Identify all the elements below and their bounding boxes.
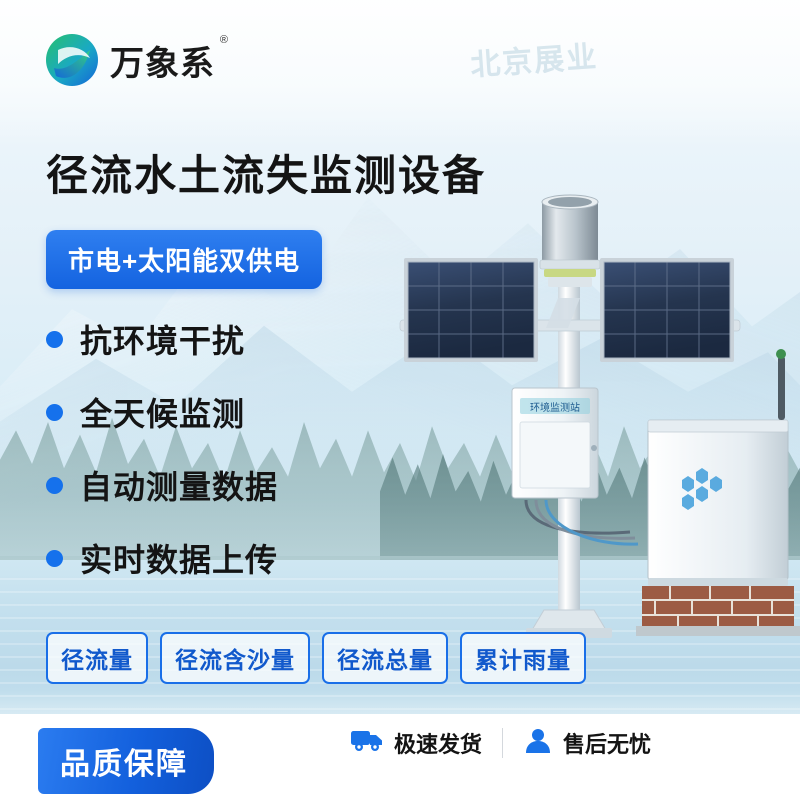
bullet-dot-icon — [46, 550, 63, 567]
swirl-sphere-logo-icon — [44, 32, 100, 88]
service-label: 极速发货 — [394, 727, 482, 759]
station-label-text: 环境监测站 — [530, 401, 580, 414]
measurement-tag: 径流含沙量 — [160, 632, 310, 684]
feature-item: 全天候监测 — [46, 389, 278, 435]
quality-assurance-badge: 品质保障 — [38, 728, 214, 794]
brand-logo: 万象系 ® — [44, 32, 215, 88]
bullet-dot-icon — [46, 477, 63, 494]
poster-canvas: 北京展业 — [0, 0, 800, 800]
feature-item: 自动测量数据 — [46, 462, 278, 508]
brand-name: 万象系 ® — [110, 36, 215, 85]
registered-mark: ® — [220, 34, 229, 46]
measurement-tag: 累计雨量 — [460, 632, 586, 684]
delivery-truck-icon — [350, 727, 384, 758]
service-label: 售后无忧 — [563, 727, 651, 759]
service-item-aftersales: 售后无忧 — [503, 726, 671, 759]
service-item-shipping: 极速发货 — [330, 727, 502, 759]
measurement-tag: 径流量 — [46, 632, 148, 684]
customer-service-person-icon — [523, 726, 553, 759]
feature-item: 抗环境干扰 — [46, 316, 278, 362]
feature-label: 全天候监测 — [80, 389, 245, 435]
brand-name-text: 万象系 — [110, 45, 215, 83]
feature-label: 抗环境干扰 — [80, 316, 245, 362]
feature-label: 实时数据上传 — [80, 535, 278, 581]
feature-label: 自动测量数据 — [80, 462, 278, 508]
bullet-dot-icon — [46, 404, 63, 421]
service-promise-list: 极速发货 售后无忧 — [330, 726, 671, 759]
page-title: 径流水土流失监测设备 — [46, 142, 486, 203]
watermark-text: 北京展业 — [469, 32, 600, 85]
feature-list: 抗环境干扰 全天候监测 自动测量数据 实时数据上传 — [46, 316, 278, 581]
power-supply-badge: 市电+太阳能双供电 — [46, 230, 322, 289]
equipment-illustration: 环境监测站 — [330, 180, 800, 650]
brick-base — [636, 586, 800, 636]
feature-item: 实时数据上传 — [46, 535, 278, 581]
measurement-tag: 径流总量 — [322, 632, 448, 684]
measurement-tag-list: 径流量 径流含沙量 径流总量 累计雨量 — [46, 632, 586, 684]
bullet-dot-icon — [46, 331, 63, 348]
